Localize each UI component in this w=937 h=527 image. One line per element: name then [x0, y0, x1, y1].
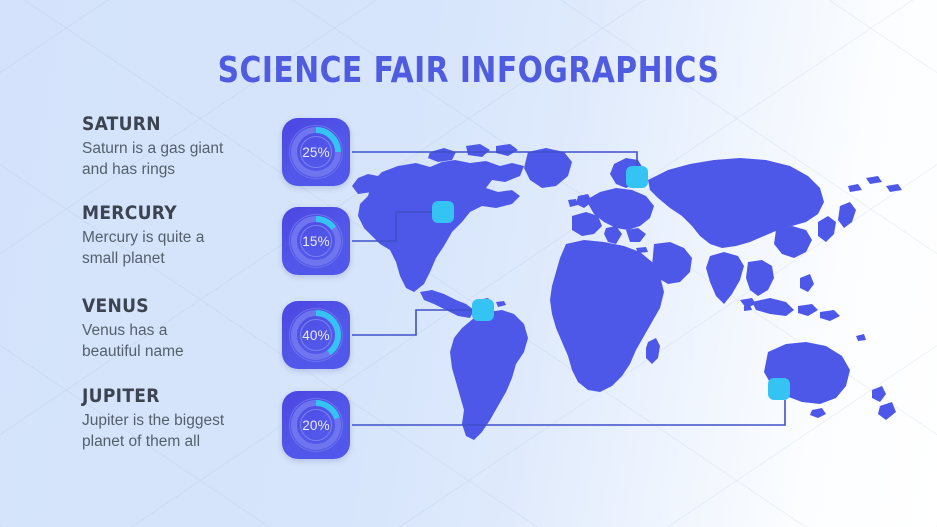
body-saturn: Saturn is a gas giant and has rings	[82, 138, 282, 181]
marker-australia[interactable]	[768, 378, 790, 400]
heading-mercury: MERCURY	[82, 202, 282, 224]
text-block-mercury: MERCURY Mercury is quite a small planet	[82, 202, 282, 270]
body-saturn-line1: Saturn is a gas giant	[82, 140, 223, 157]
body-mercury-line1: Mercury is quite a	[82, 229, 204, 246]
donut-card-mercury[interactable]: 15%	[282, 207, 350, 275]
infographic-slide: SCIENCE FAIR INFOGRAPHICS SATURN Saturn …	[0, 0, 937, 527]
heading-saturn: SATURN	[82, 113, 282, 135]
donut-card-saturn[interactable]: 25%	[282, 118, 350, 186]
body-mercury-line2: small planet	[82, 250, 165, 267]
donut-chart-mercury	[282, 207, 350, 275]
body-jupiter: Jupiter is the biggest planet of them al…	[82, 410, 292, 453]
donut-card-jupiter[interactable]: 20%	[282, 391, 350, 459]
page-title: SCIENCE FAIR INFOGRAPHICS	[37, 50, 899, 91]
donut-chart-venus	[282, 301, 350, 369]
text-block-jupiter: JUPITER Jupiter is the biggest planet of…	[82, 385, 292, 453]
donut-card-venus[interactable]: 40%	[282, 301, 350, 369]
body-jupiter-line2: planet of them all	[82, 433, 200, 450]
body-venus-line1: Venus has a	[82, 322, 167, 339]
marker-siberia[interactable]	[626, 166, 648, 188]
text-block-saturn: SATURN Saturn is a gas giant and has rin…	[82, 113, 282, 181]
body-saturn-line2: and has rings	[82, 161, 175, 178]
donut-chart-jupiter	[282, 391, 350, 459]
marker-south-america[interactable]	[472, 299, 494, 321]
body-jupiter-line1: Jupiter is the biggest	[82, 412, 224, 429]
donut-chart-saturn	[282, 118, 350, 186]
heading-jupiter: JUPITER	[82, 385, 292, 407]
body-mercury: Mercury is quite a small planet	[82, 227, 282, 270]
text-block-venus: VENUS Venus has a beautiful name	[82, 295, 282, 363]
heading-venus: VENUS	[82, 295, 282, 317]
body-venus-line2: beautiful name	[82, 343, 184, 360]
body-venus: Venus has a beautiful name	[82, 320, 282, 363]
marker-north-america[interactable]	[432, 201, 454, 223]
